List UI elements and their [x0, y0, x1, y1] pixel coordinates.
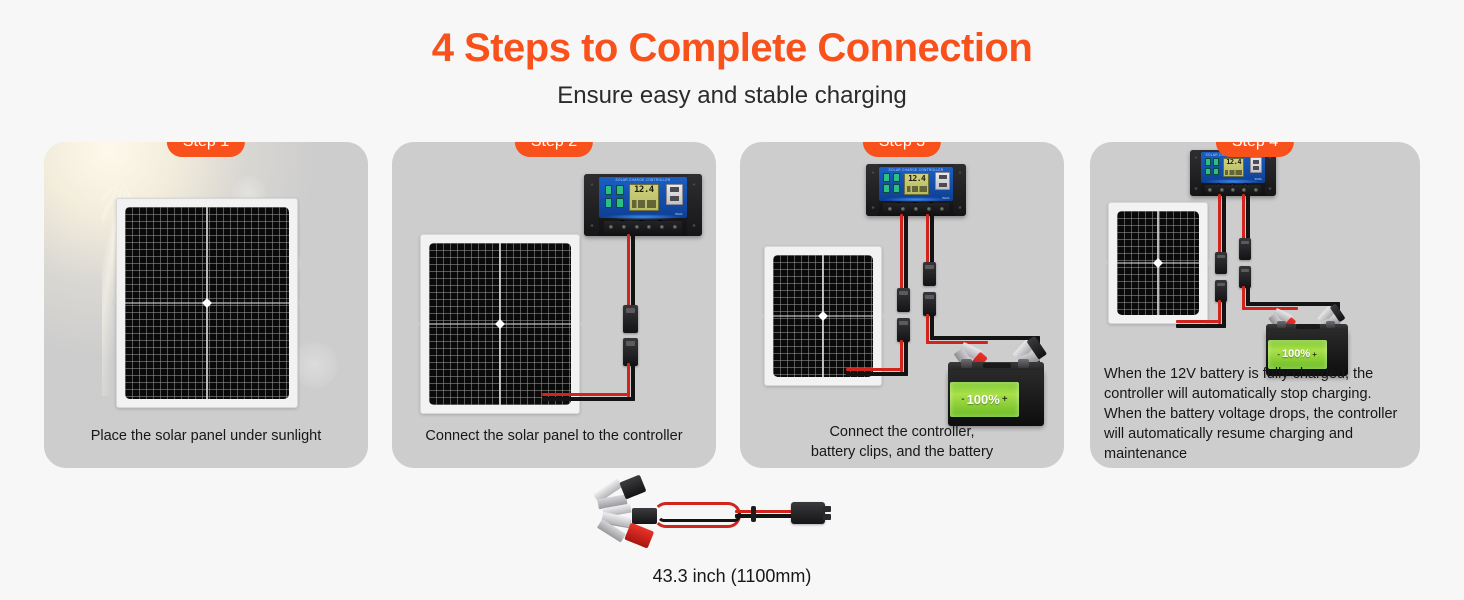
terminal-screw	[927, 207, 931, 211]
cable-black-loop	[657, 508, 741, 522]
panel-mount-left-icon: ✕	[414, 320, 422, 328]
controller-indicator-icon	[883, 173, 890, 181]
accessory-section: 43.3 inch (1100mm)	[0, 478, 1464, 600]
step-badge-1: Step 1	[167, 142, 245, 157]
step-caption-3: Connect the controller, battery clips, a…	[740, 422, 1064, 462]
sae-connector-panel-lower	[1215, 280, 1227, 302]
accessory-length-label: 43.3 inch (1100mm)	[0, 566, 1464, 587]
controller-led-glow	[1205, 179, 1260, 184]
battery-vent-cap	[1296, 324, 1321, 328]
wire-black-panel-drop	[904, 340, 908, 376]
sae-connector-panel-upper	[1215, 252, 1227, 274]
terminal-screw	[888, 207, 892, 211]
sae-connector-lower	[623, 338, 638, 366]
controller-indicator-icon	[616, 185, 624, 195]
solar-panel-cells	[773, 255, 873, 377]
controller-indicator-icon	[605, 185, 613, 195]
wire-red-battery-run	[926, 341, 988, 344]
sae-connector-battery-upper	[1239, 238, 1251, 260]
wire-red-panel-run	[846, 368, 903, 371]
wire-black-panel-run	[1176, 324, 1226, 328]
step-card-2: ✕ ✕ SOLAR CHARGE CONTROLLER	[392, 142, 716, 468]
header: 4 Steps to Complete Connection Ensure ea…	[0, 0, 1464, 108]
page-subtitle: Ensure easy and stable charging	[0, 68, 1464, 108]
step-caption-4: When the 12V battery is fully charged, t…	[1090, 364, 1420, 464]
controller-indicator-icon	[893, 184, 900, 192]
battery-positive-sign: +	[1310, 350, 1319, 359]
sae-connector-panel-lower	[897, 318, 910, 342]
panel-mount-right-icon: ✕	[296, 299, 304, 307]
terminal-screw	[901, 207, 905, 211]
controller-terminal-block	[604, 221, 682, 235]
step-card-3: ✕ ✕ SOLAR CHARGE CONTROLLER	[740, 142, 1064, 468]
battery-percent: 100%	[967, 392, 1000, 407]
terminal-screw	[635, 225, 639, 229]
terminal-screw	[1254, 188, 1258, 192]
controller-indicator-icon	[893, 173, 900, 181]
sae-connector-upper	[623, 305, 638, 333]
solar-panel-cells	[125, 207, 289, 399]
solar-panel-cells	[429, 243, 571, 405]
wire-black-panel-horizontal	[542, 397, 635, 401]
battery-terminal-positive	[1018, 359, 1029, 368]
usb-port-slot	[670, 187, 680, 192]
terminal-screw	[609, 225, 613, 229]
panel-mount-left-icon: ✕	[758, 312, 766, 320]
controller-led-glow	[884, 197, 948, 202]
controller-bracket-right	[687, 174, 702, 236]
sae-connector-battery-lower	[1239, 266, 1251, 288]
controller-indicator-icon	[1213, 168, 1219, 175]
controller-usb-ports	[1250, 157, 1263, 173]
charge-controller: SOLAR CHARGE CONTROLLER 12.4	[866, 164, 966, 216]
step-caption-1: Place the solar panel under sunlight	[44, 426, 368, 446]
controller-terminal-block	[1205, 185, 1262, 195]
controller-lcd-display: 12.4	[904, 173, 929, 195]
controller-lcd-icons	[907, 186, 927, 192]
sae-connector-battery-lower	[923, 292, 936, 316]
wire-red-controller	[627, 234, 630, 308]
wire-red-battery-run	[1242, 307, 1298, 310]
solar-panel-cells	[1117, 211, 1199, 315]
battery-clip-cable-icon	[585, 478, 875, 548]
sae-connector-battery-upper	[923, 262, 936, 286]
wire-black-panel-side	[1222, 194, 1226, 256]
controller-voltage-reading: 12.4	[905, 175, 928, 184]
controller-lcd-display: 12.4	[1223, 158, 1245, 177]
panel-mount-right-icon: ✕	[880, 312, 888, 320]
step-card-4: ✕ ✕ SOLAR CHARGE CONTROLLER	[1090, 142, 1420, 468]
controller-terminal-block	[883, 203, 949, 214]
steps-container: ✕ ✕ Place the solar panel under sunlight…	[0, 142, 1464, 472]
terminal-screw	[673, 225, 677, 229]
wire-black-battery-side	[930, 214, 934, 266]
terminal-screw	[1208, 188, 1212, 192]
solar-panel: ✕ ✕	[1108, 202, 1208, 324]
lens-flare-dot	[292, 342, 338, 388]
step-caption-2: Connect the solar panel to the controlle…	[392, 426, 716, 446]
controller-brand-label: SOLAR CHARGE CONTROLLER	[879, 168, 953, 172]
solar-panel: ✕ ✕	[420, 234, 580, 414]
wire-black-panel-side	[904, 214, 908, 292]
controller-indicator-icon	[616, 198, 624, 208]
battery-percent: 100%	[1282, 348, 1310, 360]
solar-panel: ✕ ✕	[116, 198, 298, 408]
controller-body: SOLAR CHARGE CONTROLLER 12.4	[584, 174, 702, 236]
controller-body: SOLAR CHARGE CONTROLLER 12.4	[866, 164, 966, 216]
controller-lcd-icons	[632, 200, 656, 207]
step-badge-2: Step 2	[515, 142, 593, 157]
solar-panel: ✕ ✕	[764, 246, 882, 386]
battery-positive-sign: +	[1000, 394, 1010, 405]
controller-indicator-icon	[1205, 168, 1211, 175]
sae-connector-plug	[791, 502, 825, 524]
step-badge-3: Step 3	[863, 142, 941, 157]
controller-bracket-right	[953, 164, 966, 216]
controller-usb-ports	[935, 172, 950, 190]
controller-faceplate: SOLAR CHARGE CONTROLLER 12.4	[599, 177, 686, 218]
wire-red-panel-run	[1176, 320, 1221, 323]
panel-mount-left-icon: ✕	[110, 299, 118, 307]
page-title: 4 Steps to Complete Connection	[0, 0, 1464, 68]
controller-indicator-icon	[1213, 158, 1219, 165]
wire-black-battery-side	[1246, 194, 1250, 240]
panel-mount-right-icon: ✕	[1206, 259, 1214, 267]
wire-black-panel-run	[846, 372, 908, 376]
usb-port-slot	[670, 196, 680, 201]
controller-voltage-reading: 12.4	[630, 186, 658, 196]
wire-red-panel-horizontal	[542, 393, 630, 396]
controller-lcd-display: 12.4	[629, 184, 659, 210]
controller-indicator-icon	[883, 184, 890, 192]
controller-usb-ports	[666, 184, 683, 205]
terminal-screw	[940, 207, 944, 211]
wire-black-battery-run	[1246, 302, 1340, 306]
cable-tie	[751, 506, 756, 522]
battery-terminal-positive	[1326, 321, 1335, 328]
wire-red-panel-side	[1218, 194, 1221, 256]
controller-bracket-left	[584, 174, 599, 236]
controller-bracket-left	[1190, 150, 1201, 196]
charge-controller: SOLAR CHARGE CONTROLLER 12.4	[584, 174, 702, 236]
battery-negative-sign: -	[959, 394, 966, 405]
usb-port-slot	[1253, 160, 1260, 164]
panel-mount-left-icon: ✕	[1102, 259, 1110, 267]
controller-led-glow	[605, 214, 681, 220]
controller-lcd-icons	[1225, 170, 1242, 175]
battery-charge-label: - 100% +	[950, 382, 1019, 417]
controller-faceplate: SOLAR CHARGE CONTROLLER 12.4	[879, 167, 953, 201]
wire-red-battery-side	[926, 214, 929, 266]
cable-red-run	[735, 510, 793, 513]
wire-black-panel-vertical	[631, 363, 635, 401]
controller-brand-label: SOLAR CHARGE CONTROLLER	[599, 178, 686, 182]
cable-black-run	[735, 514, 793, 518]
panel-mount-right-icon: ✕	[578, 320, 586, 328]
battery-terminal-negative	[1277, 321, 1286, 328]
wire-red-battery-drop	[926, 314, 929, 344]
battery-12v: - 100% +	[948, 370, 1044, 426]
wire-red-battery-side	[1242, 194, 1245, 240]
usb-port-slot	[939, 183, 947, 187]
controller-indicator-icon	[605, 198, 613, 208]
terminal-screw	[1231, 188, 1235, 192]
step-badge-4: Step 4	[1216, 142, 1294, 157]
sae-connector-panel-upper	[897, 288, 910, 312]
battery-vent-cap	[983, 363, 1012, 368]
terminal-screw	[647, 225, 651, 229]
usb-port-slot	[1253, 166, 1260, 170]
controller-voltage-reading: 12.4	[1224, 159, 1244, 167]
step-card-1: ✕ ✕ Place the solar panel under sunlight…	[44, 142, 368, 468]
battery-terminal-negative	[961, 359, 972, 368]
terminal-screw	[914, 207, 918, 211]
usb-port-slot	[939, 175, 947, 179]
terminal-screw	[1220, 188, 1224, 192]
terminal-screw	[622, 225, 626, 229]
wire-red-panel-side	[900, 214, 903, 292]
wire-red-panel-vertical	[627, 363, 630, 397]
wire-black-controller	[631, 234, 635, 308]
infographic-page: 4 Steps to Complete Connection Ensure ea…	[0, 0, 1464, 600]
terminal-screw	[660, 225, 664, 229]
controller-indicator-icon	[1205, 158, 1211, 165]
controller-bracket-left	[866, 164, 879, 216]
terminal-screw	[1242, 188, 1246, 192]
